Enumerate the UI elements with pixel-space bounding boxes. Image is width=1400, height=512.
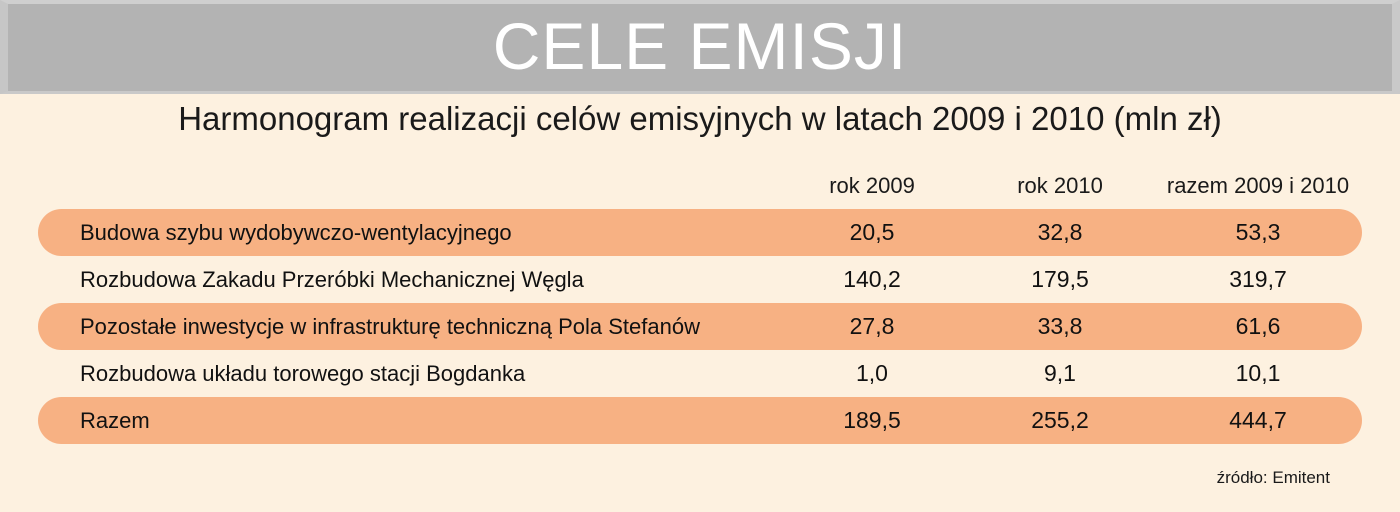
row-value-total: 10,1 — [1154, 360, 1362, 387]
row-value-total: 61,6 — [1154, 313, 1362, 340]
column-header-2010: rok 2010 — [966, 173, 1154, 199]
source-note: źródło: Emitent — [1217, 468, 1330, 488]
row-value-2010: 179,5 — [966, 266, 1154, 293]
row-label: Pozostałe inwestycje w infrastrukturę te… — [38, 314, 778, 340]
table-row[interactable]: Pozostałe inwestycje w infrastrukturę te… — [38, 303, 1362, 350]
table-header-row: rok 2009 rok 2010 razem 2009 i 2010 — [38, 163, 1362, 209]
row-value-2009: 20,5 — [778, 219, 966, 246]
row-value-2010: 9,1 — [966, 360, 1154, 387]
row-value-total: 319,7 — [1154, 266, 1362, 293]
slide-root: CELE EMISJI Harmonogram realizacji celów… — [0, 0, 1400, 512]
row-value-2009: 1,0 — [778, 360, 966, 387]
row-value-2010: 33,8 — [966, 313, 1154, 340]
row-label: Rozbudowa Zakadu Przeróbki Mechanicznej … — [38, 267, 778, 293]
table-total-row[interactable]: Razem 189,5 255,2 444,7 — [38, 397, 1362, 444]
header-band: CELE EMISJI — [0, 0, 1400, 94]
row-value-2010: 32,8 — [966, 219, 1154, 246]
row-value-2009: 27,8 — [778, 313, 966, 340]
schedule-table: rok 2009 rok 2010 razem 2009 i 2010 Budo… — [38, 163, 1362, 444]
row-value-2009: 189,5 — [778, 407, 966, 434]
row-label: Razem — [38, 408, 778, 434]
row-label: Rozbudowa układu torowego stacji Bogdank… — [38, 361, 778, 387]
row-label: Budowa szybu wydobywczo-wentylacyjnego — [38, 220, 778, 246]
column-header-total: razem 2009 i 2010 — [1154, 173, 1362, 199]
table-row[interactable]: Rozbudowa układu torowego stacji Bogdank… — [38, 350, 1362, 397]
row-value-total: 444,7 — [1154, 407, 1362, 434]
page-title: CELE EMISJI — [493, 13, 907, 79]
column-header-2009: rok 2009 — [778, 173, 966, 199]
table-row[interactable]: Rozbudowa Zakadu Przeróbki Mechanicznej … — [38, 256, 1362, 303]
row-value-2009: 140,2 — [778, 266, 966, 293]
subtitle: Harmonogram realizacji celów emisyjnych … — [0, 100, 1400, 138]
row-value-2010: 255,2 — [966, 407, 1154, 434]
table-row[interactable]: Budowa szybu wydobywczo-wentylacyjnego 2… — [38, 209, 1362, 256]
row-value-total: 53,3 — [1154, 219, 1362, 246]
